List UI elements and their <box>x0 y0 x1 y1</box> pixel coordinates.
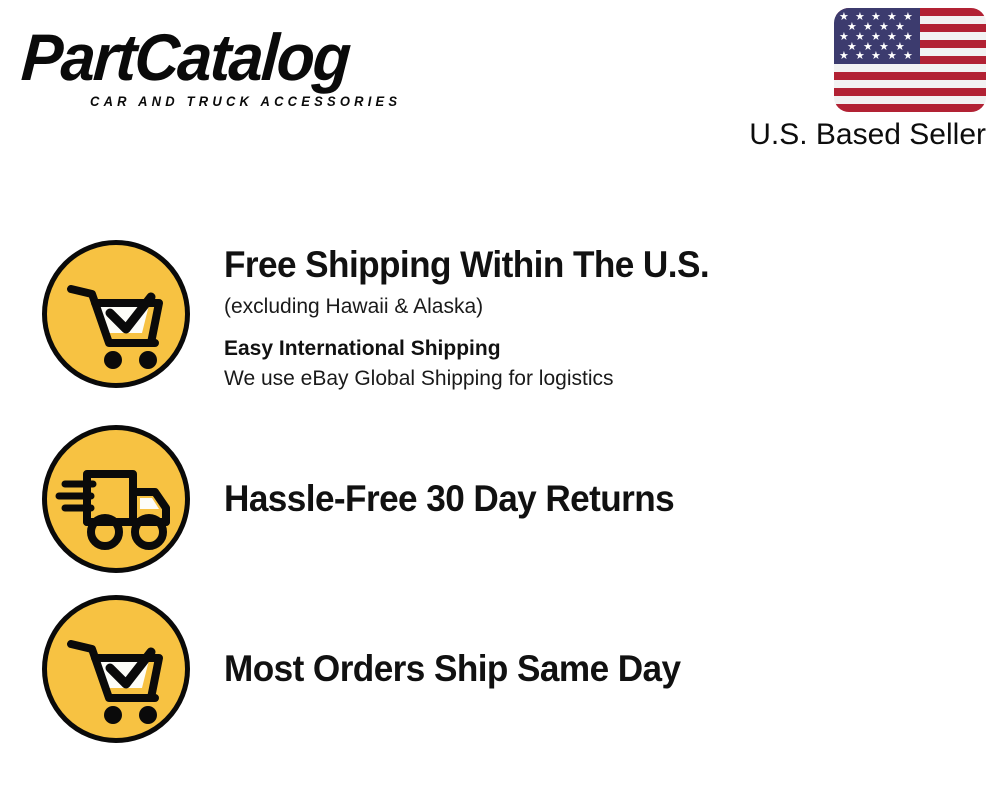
brand-tagline: CAR AND TRUCK ACCESSORIES <box>90 94 401 109</box>
feature-title: Hassle-Free 30 Day Returns <box>224 476 961 522</box>
promo-banner: PartCatalog CAR AND TRUCK ACCESSORIES <box>0 0 1000 800</box>
feature-text-block: Hassle-Free 30 Day Returns <box>190 476 1000 522</box>
shopping-cart-check-icon <box>42 595 190 743</box>
feature-text-block: Most Orders Ship Same Day <box>190 646 1000 692</box>
brand-logo: PartCatalog CAR AND TRUCK ACCESSORIES <box>24 22 494 118</box>
feature-row: Hassle-Free 30 Day Returns <box>0 425 1000 573</box>
feature-text-block: Free Shipping Within The U.S. (excluding… <box>190 240 1000 394</box>
feature-title: Free Shipping Within The U.S. <box>224 242 961 288</box>
delivery-truck-icon <box>42 425 190 573</box>
us-based-seller-label: U.S. Based Seller <box>749 118 986 152</box>
feature-extra-heading: Easy International Shipping <box>224 334 1000 364</box>
us-flag-icon: ★ ★ ★ ★ ★ ★ ★ ★ ★ ★ ★ ★ ★ ★ ★ ★ ★ ★ ★ ★ <box>834 8 986 112</box>
banner-header: PartCatalog CAR AND TRUCK ACCESSORIES <box>0 0 1000 180</box>
shopping-cart-check-icon <box>42 240 190 388</box>
feature-row: Most Orders Ship Same Day <box>0 595 1000 743</box>
feature-title: Most Orders Ship Same Day <box>224 646 961 692</box>
brand-swash-decoration <box>424 98 510 126</box>
flag-canton: ★ ★ ★ ★ ★ ★ ★ ★ ★ ★ ★ ★ ★ ★ ★ ★ ★ ★ ★ ★ <box>834 8 920 64</box>
brand-wordmark: PartCatalog <box>19 22 465 92</box>
feature-subtitle: (excluding Hawaii & Alaska) <box>224 292 1000 322</box>
feature-row: Free Shipping Within The U.S. (excluding… <box>0 240 1000 394</box>
feature-extra-body: We use eBay Global Shipping for logistic… <box>224 364 1000 394</box>
